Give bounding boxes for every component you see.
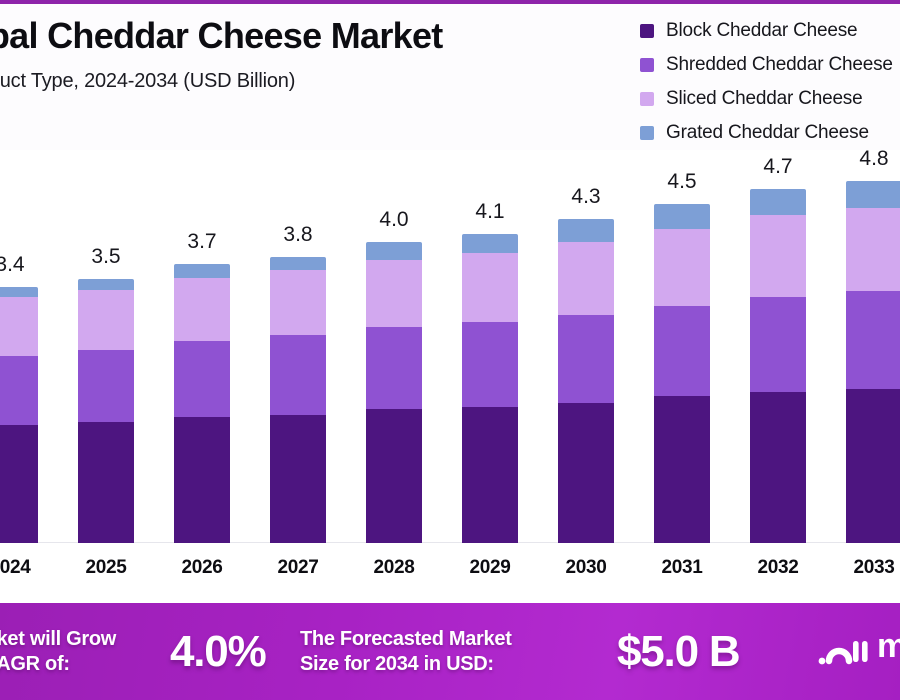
bar-segment-sliced-cheddar-cheese[interactable] (462, 253, 518, 322)
x-axis-tick-2028: 2028 (373, 557, 414, 579)
bar-segment-sliced-cheddar-cheese[interactable] (750, 215, 806, 297)
bar-segment-block-cheddar-cheese[interactable] (558, 403, 614, 543)
stacked-bar[interactable]: 4.1 (462, 234, 518, 543)
cagr-label-line2: At the CAGR of: (0, 652, 116, 676)
stacked-bar[interactable]: 4.0 (366, 242, 422, 543)
legend-swatch-icon-sliced (640, 92, 654, 106)
legend-item-grated[interactable]: Grated Cheddar Cheese (640, 116, 900, 150)
bar-segment-grated-cheddar-cheese[interactable] (0, 287, 38, 298)
bar-segment-shredded-cheddar-cheese[interactable] (846, 291, 900, 389)
bar-slot: 4.32030 (538, 151, 634, 543)
brand-logo[interactable]: mar ONE W (815, 631, 900, 676)
bar-segment-grated-cheddar-cheese[interactable] (750, 189, 806, 215)
x-axis-tick-2032: 2032 (757, 557, 798, 579)
bar-segment-shredded-cheddar-cheese[interactable] (462, 322, 518, 407)
bar-total-label: 4.0 (379, 208, 408, 232)
bar-slot: 4.12029 (442, 151, 538, 543)
cagr-label: The Market will Grow At the CAGR of: (0, 627, 116, 676)
legend-item-shredded[interactable]: Shredded Cheddar Cheese (640, 48, 900, 82)
x-axis-tick-2024: 2024 (0, 557, 31, 579)
cagr-label-line1: The Market will Grow (0, 627, 116, 651)
x-axis-tick-2026: 2026 (181, 557, 222, 579)
x-axis-tick-2033: 2033 (853, 557, 894, 579)
bar-slot: 3.82027 (250, 151, 346, 543)
legend-swatch-icon-grated (640, 126, 654, 140)
stacked-bar[interactable]: 4.3 (558, 219, 614, 543)
forecast-size-label-line1: The Forecasted Market (300, 627, 512, 651)
bar-slot: 3.72026 (154, 151, 250, 543)
bar-segment-sliced-cheddar-cheese[interactable] (78, 290, 134, 350)
bar-segment-grated-cheddar-cheese[interactable] (462, 234, 518, 253)
stacked-bar[interactable]: 3.7 (174, 264, 230, 543)
legend-label-shredded: Shredded Cheddar Cheese (666, 54, 893, 76)
legend-item-sliced[interactable]: Sliced Cheddar Cheese (640, 82, 900, 116)
bar-slot: 3.52025 (58, 151, 154, 543)
logo-glyph-icon (815, 631, 871, 676)
forecast-size-value: $5.0 B (617, 627, 739, 677)
logo-wordmark: mar (877, 627, 900, 665)
bar-segment-block-cheddar-cheese[interactable] (78, 422, 134, 543)
forecast-size-label-line2: Size for 2034 in USD: (300, 652, 512, 676)
chart-header: Global Cheddar Cheese Market By Product … (0, 4, 900, 150)
legend-swatch-icon-block (640, 24, 654, 38)
bar-total-label: 3.8 (283, 223, 312, 247)
bar-segment-shredded-cheddar-cheese[interactable] (174, 341, 230, 417)
x-axis-tick-2031: 2031 (661, 557, 702, 579)
bar-segment-grated-cheddar-cheese[interactable] (270, 257, 326, 271)
bar-segment-block-cheddar-cheese[interactable] (366, 409, 422, 543)
bar-segment-grated-cheddar-cheese[interactable] (174, 264, 230, 278)
bar-segment-block-cheddar-cheese[interactable] (846, 389, 900, 543)
bar-segment-grated-cheddar-cheese[interactable] (366, 242, 422, 260)
bar-segment-block-cheddar-cheese[interactable] (270, 415, 326, 543)
x-axis-tick-2030: 2030 (565, 557, 606, 579)
bar-segment-grated-cheddar-cheese[interactable] (654, 204, 710, 230)
infographic-root: Global Cheddar Cheese Market By Product … (0, 0, 900, 700)
bar-slot: 4.82033 (826, 151, 900, 543)
bar-segment-grated-cheddar-cheese[interactable] (558, 219, 614, 242)
stacked-bar[interactable]: 3.4 (0, 287, 38, 543)
legend-item-block[interactable]: Block Cheddar Cheese (640, 14, 900, 48)
bar-total-label: 4.7 (763, 155, 792, 179)
bar-segment-grated-cheddar-cheese[interactable] (846, 181, 900, 207)
stacked-bar[interactable]: 3.8 (270, 257, 326, 543)
footer-banner: The Market will Grow At the CAGR of: 4.0… (0, 603, 900, 700)
bar-slot: 4.02028 (346, 151, 442, 543)
bar-group: 3.420243.520253.720263.820274.020284.120… (0, 151, 900, 543)
legend-label-sliced: Sliced Cheddar Cheese (666, 88, 862, 110)
bar-segment-block-cheddar-cheese[interactable] (654, 396, 710, 543)
stacked-bar[interactable]: 4.8 (846, 181, 900, 543)
bar-total-label: 3.5 (91, 245, 120, 269)
bar-segment-shredded-cheddar-cheese[interactable] (366, 327, 422, 409)
title-block: Global Cheddar Cheese Market By Product … (0, 16, 630, 93)
chart-plot-area: 3.420243.520253.720263.820274.020284.120… (0, 150, 900, 595)
x-axis-tick-2025: 2025 (85, 557, 126, 579)
bar-segment-sliced-cheddar-cheese[interactable] (846, 208, 900, 292)
legend-swatch-icon-shredded (640, 58, 654, 72)
stacked-bar[interactable]: 3.5 (78, 279, 134, 543)
bar-segment-shredded-cheddar-cheese[interactable] (654, 306, 710, 396)
bar-segment-sliced-cheddar-cheese[interactable] (270, 270, 326, 335)
bar-segment-shredded-cheddar-cheese[interactable] (270, 335, 326, 415)
bar-total-label: 3.7 (187, 230, 216, 254)
logo-text-wrap: mar ONE W (877, 631, 900, 662)
bar-segment-block-cheddar-cheese[interactable] (750, 392, 806, 543)
x-axis-tick-2029: 2029 (469, 557, 510, 579)
bar-segment-block-cheddar-cheese[interactable] (174, 417, 230, 543)
bar-total-label: 4.3 (571, 185, 600, 209)
bar-segment-shredded-cheddar-cheese[interactable] (0, 356, 38, 425)
bar-total-label: 3.4 (0, 253, 25, 277)
bar-segment-shredded-cheddar-cheese[interactable] (750, 297, 806, 392)
bar-segment-block-cheddar-cheese[interactable] (0, 425, 38, 543)
bar-segment-shredded-cheddar-cheese[interactable] (558, 315, 614, 402)
bar-slot: 4.52031 (634, 151, 730, 543)
bar-total-label: 4.1 (475, 200, 504, 224)
bar-segment-block-cheddar-cheese[interactable] (462, 407, 518, 543)
legend-label-block: Block Cheddar Cheese (666, 20, 857, 42)
x-axis-tick-2027: 2027 (277, 557, 318, 579)
bar-segment-sliced-cheddar-cheese[interactable] (174, 278, 230, 341)
bar-segment-grated-cheddar-cheese[interactable] (78, 279, 134, 290)
stacked-bar[interactable]: 4.7 (750, 189, 806, 543)
bar-slot: 4.72032 (730, 151, 826, 543)
forecast-size-label: The Forecasted Market Size for 2034 in U… (300, 627, 512, 676)
bar-segment-sliced-cheddar-cheese[interactable] (366, 260, 422, 327)
page-title: Global Cheddar Cheese Market (0, 16, 630, 56)
bar-total-label: 4.5 (667, 170, 696, 194)
legend-label-grated: Grated Cheddar Cheese (666, 122, 869, 144)
bar-segment-sliced-cheddar-cheese[interactable] (558, 242, 614, 315)
bar-total-label: 4.8 (859, 147, 888, 171)
cagr-value: 4.0% (170, 627, 266, 677)
chart-legend: Block Cheddar Cheese Shredded Cheddar Ch… (640, 14, 900, 150)
bar-segment-sliced-cheddar-cheese[interactable] (0, 297, 38, 356)
bar-segment-sliced-cheddar-cheese[interactable] (654, 229, 710, 305)
stacked-bar[interactable]: 4.5 (654, 204, 710, 543)
bar-slot: 3.42024 (0, 151, 58, 543)
bar-segment-shredded-cheddar-cheese[interactable] (78, 350, 134, 422)
chart-subtitle: By Product Type, 2024-2034 (USD Billion) (0, 70, 630, 93)
